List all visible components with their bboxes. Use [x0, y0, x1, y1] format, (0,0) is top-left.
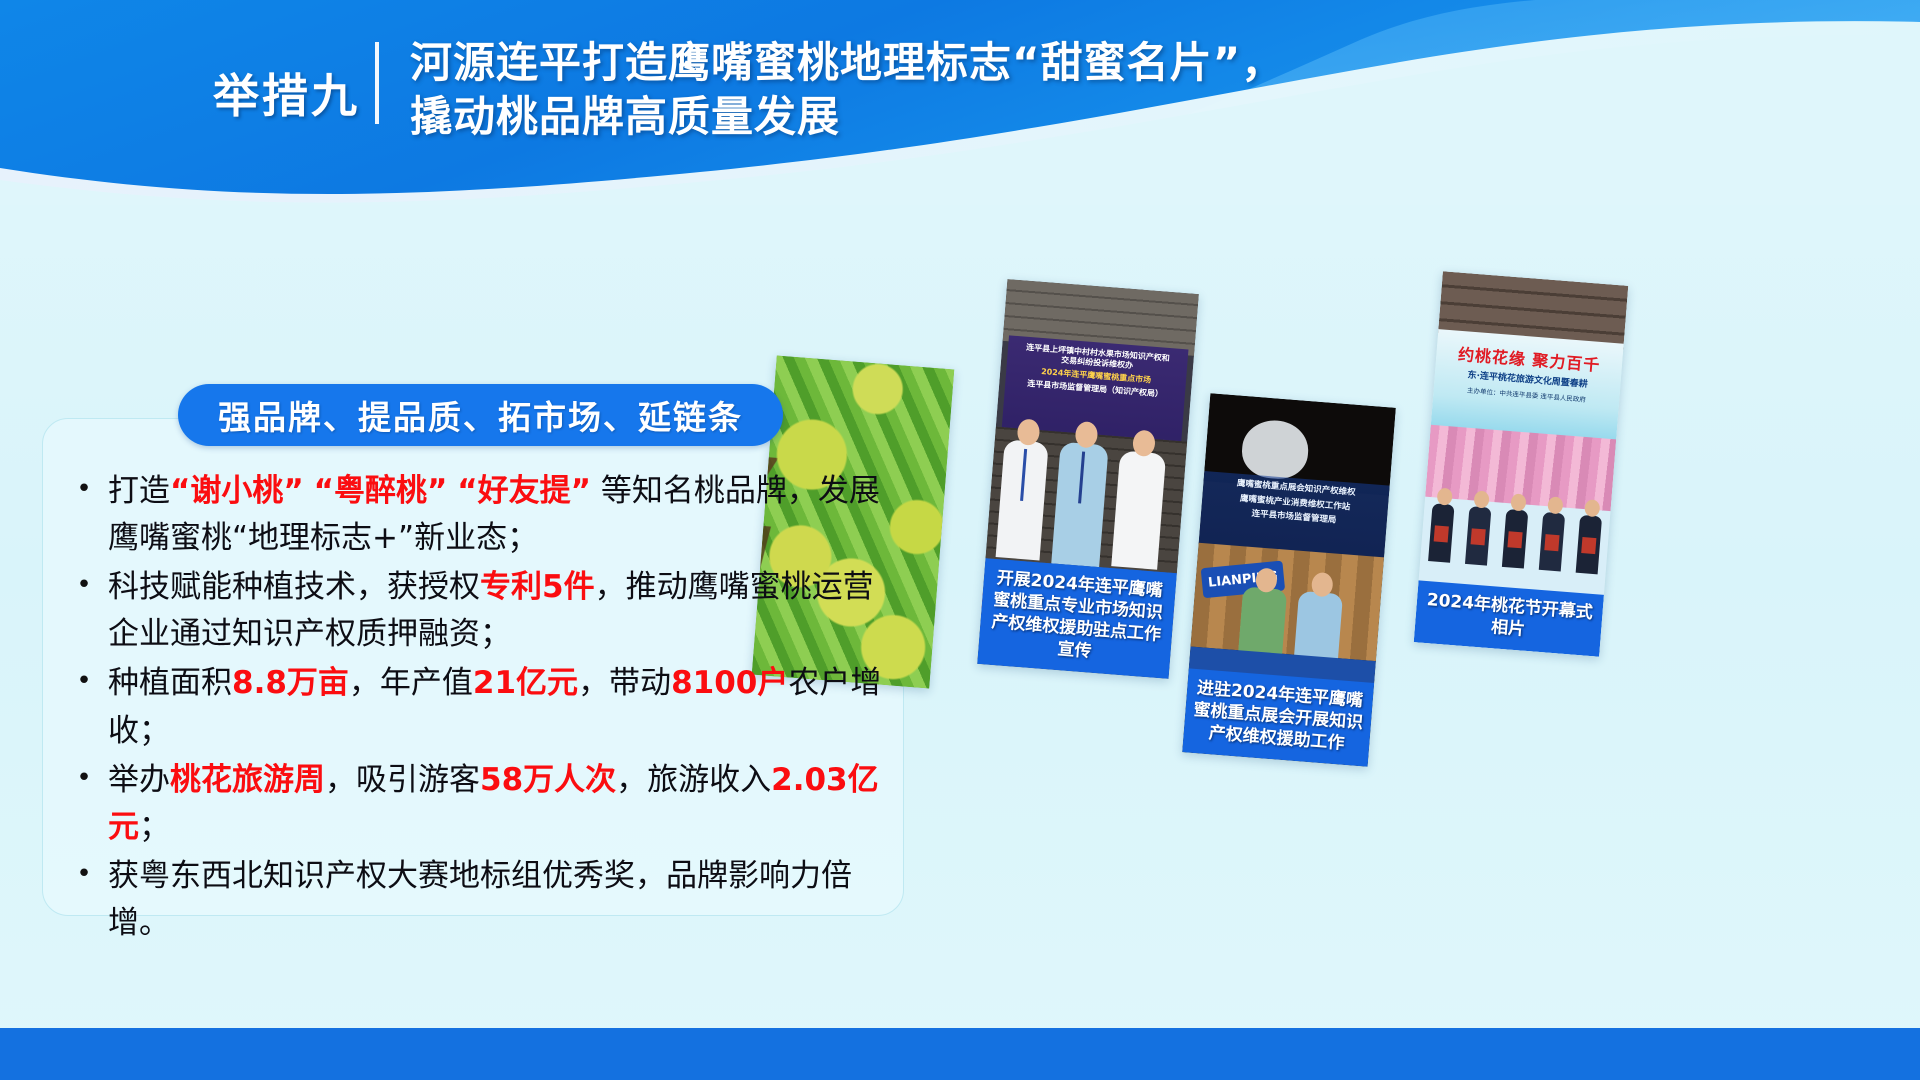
bullet-item: •获粤东西北知识产权大赛地标组优秀奖，品牌影响力倍增。: [60, 853, 890, 947]
bullet-marker: •: [60, 660, 108, 702]
expo-booth-caption: 进驻2024年连平鹰嘴蜜桃重点展会开展知识产权维权援助工作: [1182, 668, 1374, 767]
bullet-text: 打造“谢小桃” “粤醉桃” “好友提” 等知名桃品牌，发展鹰嘴蜜桃“地理标志+”…: [108, 468, 890, 562]
bullet-list: •打造“谢小桃” “粤醉桃” “好友提” 等知名桃品牌，发展鹰嘴蜜桃“地理标志+…: [60, 468, 890, 949]
bullet-marker: •: [60, 468, 108, 510]
bullet-highlight: “谢小桃”: [170, 473, 304, 509]
slide-root: 举措九 河源连平打造鹰嘴蜜桃地理标志“甜蜜名片”， 撬动桃品牌高质量发展 强品牌…: [0, 0, 1920, 1080]
bullet-highlight: 8100户: [671, 665, 788, 701]
bullet-text: 科技赋能种植技术，获授权专利5件，推动鹰嘴蜜桃运营企业通过知识产权质押融资；: [108, 564, 890, 658]
expo-person-1: [1238, 586, 1287, 655]
bullet-highlight: 桃花旅游周: [170, 762, 325, 798]
bullet-highlight: “好友提”: [457, 473, 591, 509]
bullet-segment: ，带动: [578, 665, 671, 701]
festival-caption: 2024年桃花节开幕式相片: [1414, 580, 1604, 657]
bullet-highlight: “粤醉桃”: [314, 473, 448, 509]
strategy-badge: 强品牌、提品质、拓市场、延链条: [178, 384, 783, 446]
footer-bar: [0, 1028, 1920, 1080]
bullet-segment: ；: [139, 809, 170, 845]
bullet-segment: 种植面积: [108, 665, 232, 701]
market-booth-photo[interactable]: 连平县上坪镇中村村水果市场知识产权和 交易纠纷投诉维权办 2024年连平鹰嘴蜜桃…: [977, 279, 1199, 679]
peach-blossom-festival-photo[interactable]: 约桃花缘 聚力百千 东·连平桃花旅游文化周暨春耕 主办单位：中共连平县委 连平县…: [1414, 271, 1629, 656]
bullet-segment: 打造: [108, 473, 170, 509]
wooden-wall: [1190, 543, 1384, 661]
expo-booth-image: 鹰嘴蜜桃重点展会知识产权维权 鹰嘴蜜桃产业消费维权工作站 连平县市场监督管理局 …: [1182, 393, 1396, 766]
bullet-text: 举办桃花旅游周，吸引游客58万人次，旅游收入2.03亿元；: [108, 757, 890, 851]
bullet-marker: •: [60, 564, 108, 606]
bullet-segment: ，年产值: [349, 665, 473, 701]
market-booth-image: 连平县上坪镇中村村水果市场知识产权和 交易纠纷投诉维权办 2024年连平鹰嘴蜜桃…: [977, 279, 1199, 679]
bullet-marker: •: [60, 853, 108, 895]
peach-blossom-image: 约桃花缘 聚力百千 东·连平桃花旅游文化周暨春耕 主办单位：中共连平县委 连平县…: [1414, 271, 1629, 656]
bullet-segment: [304, 473, 314, 509]
bullet-text: 获粤东西北知识产权大赛地标组优秀奖，品牌影响力倍增。: [108, 853, 890, 947]
bullet-highlight: 8.8万亩: [232, 665, 349, 701]
bullet-marker: •: [60, 757, 108, 799]
bullet-segment: [447, 473, 457, 509]
expo-person-2: [1294, 591, 1343, 660]
staff-person-3: [1111, 450, 1166, 569]
bullet-highlight: 专利5件: [480, 569, 595, 605]
market-booth-caption: 开展2024年连平鹰嘴蜜桃重点专业市场知识产权维权援助驻点工作宣传: [977, 558, 1177, 679]
staff-person-2: [1051, 442, 1108, 567]
strategy-badge-label: 强品牌、提品质、拓市场、延链条: [218, 391, 743, 439]
staff-person-1: [996, 439, 1049, 560]
officials-row: [1420, 485, 1611, 575]
bullet-text: 种植面积8.8万亩，年产值21亿元，带动8100户农户增收；: [108, 660, 890, 754]
expo-booth-photo[interactable]: 鹰嘴蜜桃重点展会知识产权维权 鹰嘴蜜桃产业消费维权工作站 连平县市场监督管理局 …: [1182, 393, 1396, 766]
bullet-item: •种植面积8.8万亩，年产值21亿元，带动8100户农户增收；: [60, 660, 890, 754]
bullet-highlight: 21亿元: [473, 665, 578, 701]
bullet-item: •打造“谢小桃” “粤醉桃” “好友提” 等知名桃品牌，发展鹰嘴蜜桃“地理标志+…: [60, 468, 890, 562]
bullet-item: •科技赋能种植技术，获授权专利5件，推动鹰嘴蜜桃运营企业通过知识产权质押融资；: [60, 564, 890, 658]
bullet-highlight: 58万人次: [480, 762, 616, 798]
bullet-segment: 获粤东西北知识产权大赛地标组优秀奖，品牌影响力倍增。: [108, 858, 852, 941]
bullet-item: •举办桃花旅游周，吸引游客58万人次，旅游收入2.03亿元；: [60, 757, 890, 851]
bullet-segment: 举办: [108, 762, 170, 798]
bullet-segment: ，吸引游客: [325, 762, 480, 798]
bullet-segment: ，旅游收入: [616, 762, 771, 798]
bullet-segment: 科技赋能种植技术，获授权: [108, 569, 480, 605]
